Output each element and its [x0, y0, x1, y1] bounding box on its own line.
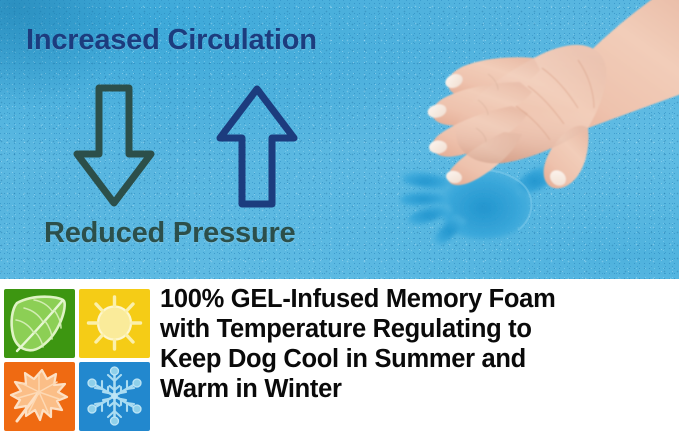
season-icon-grid: [4, 289, 150, 431]
season-tile-summer: [79, 289, 150, 358]
season-tile-winter: [79, 362, 150, 431]
description-line-4: Warm in Winter: [160, 375, 672, 405]
headline-increased-circulation: Increased Circulation: [26, 24, 317, 57]
maple-leaf-icon: [4, 362, 75, 431]
description-line-2: with Temperature Regulating to: [160, 315, 672, 345]
season-tile-spring: [4, 289, 75, 358]
arrow-up-icon: [209, 82, 305, 215]
leaf-icon: [4, 289, 75, 358]
product-description: 100% GEL-Infused Memory Foam with Temper…: [160, 285, 672, 405]
snowflake-icon: [79, 362, 150, 431]
headline-reduced-pressure: Reduced Pressure: [44, 217, 295, 250]
description-line-1: 100% GEL-Infused Memory Foam: [160, 285, 672, 315]
season-tile-autumn: [4, 362, 75, 431]
arrow-down-icon: [66, 82, 162, 215]
description-line-3: Keep Dog Cool in Summer and: [160, 345, 672, 375]
feature-callout-panel: 100% GEL-Infused Memory Foam with Temper…: [0, 279, 679, 436]
product-infographic: Increased Circulation Reduced Pressure: [0, 0, 679, 436]
memory-foam-photo: Increased Circulation Reduced Pressure: [0, 0, 679, 279]
sun-icon: [79, 289, 150, 358]
hand-pressing-icon: [392, 0, 679, 237]
